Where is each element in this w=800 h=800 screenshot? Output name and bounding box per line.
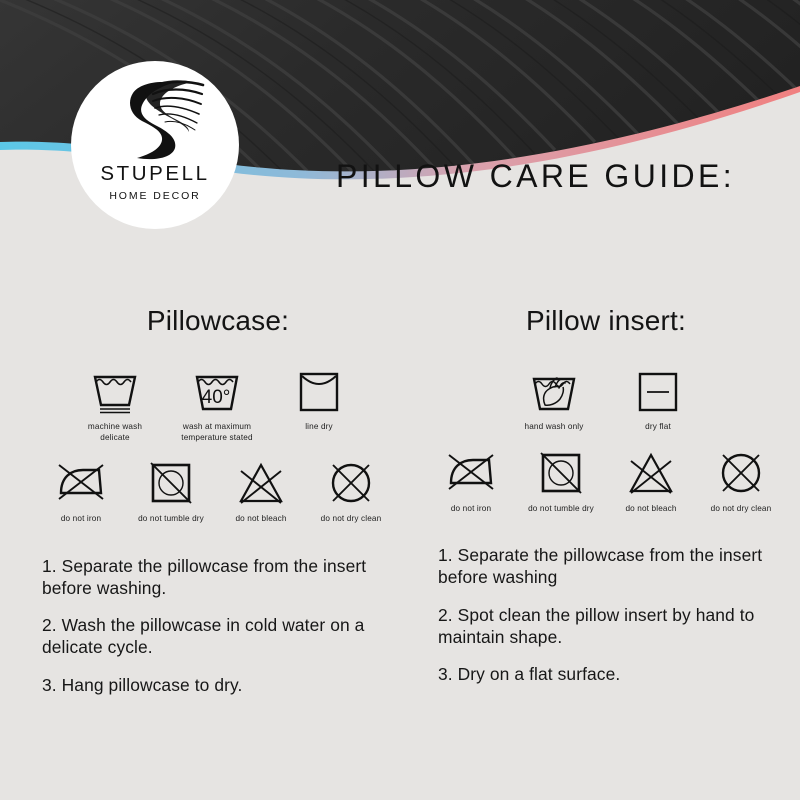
care-symbols-pillow-insert: hand wash only dry flat do not iron — [420, 365, 790, 514]
dry-flat-icon — [630, 365, 686, 417]
care-symbol-caption: dry flat — [645, 422, 671, 433]
care-symbol-do-not-tumble-dry: do not tumble dry — [523, 447, 599, 515]
care-symbol-caption: hand wash only — [525, 422, 584, 433]
swoosh-s-logo-icon — [103, 79, 207, 161]
care-symbol-caption: do not tumble dry — [138, 514, 204, 525]
do-not-bleach-icon — [623, 447, 679, 499]
brand-logo-badge: STUPELL HOME DECOR — [71, 61, 239, 229]
care-symbol-line-dry: line dry — [281, 365, 357, 433]
instructions-pillow-insert: 1. Separate the pillowcase from the inse… — [420, 544, 790, 685]
care-symbol-do-not-bleach: do not bleach — [613, 447, 689, 515]
section-pillowcase: Pillowcase: machine wash delicate 40° — [30, 305, 400, 696]
care-symbol-do-not-tumble-dry: do not tumble dry — [133, 457, 209, 525]
do-not-tumble-dry-icon — [143, 457, 199, 509]
care-symbol-do-not-bleach: do not bleach — [223, 457, 299, 525]
care-symbol-caption: do not bleach — [625, 504, 676, 515]
care-symbol-caption: line dry — [305, 422, 333, 433]
do-not-iron-icon — [443, 447, 499, 499]
care-symbol-machine-wash-delicate: machine wash delicate — [77, 365, 153, 443]
section-heading-pillowcase: Pillowcase: — [30, 305, 400, 345]
wash-max-temperature-40-icon: 40° — [189, 365, 245, 417]
care-symbol-caption: do not dry clean — [321, 514, 382, 525]
care-symbol-caption: do not iron — [451, 504, 491, 515]
instruction-item: 1. Separate the pillowcase from the inse… — [438, 544, 790, 589]
care-symbol-do-not-dry-clean: do not dry clean — [703, 447, 779, 515]
care-symbol-caption: do not iron — [61, 514, 101, 525]
instruction-item: 2. Spot clean the pillow insert by hand … — [438, 604, 790, 649]
care-symbol-hand-wash-only: hand wash only — [516, 365, 592, 433]
instruction-item: 3. Hang pillowcase to dry. — [42, 674, 400, 696]
care-symbol-caption: do not dry clean — [711, 504, 772, 515]
care-symbol-caption: wash at maximum temperature stated — [181, 422, 252, 443]
care-symbol-caption: do not bleach — [235, 514, 286, 525]
care-symbol-caption: do not tumble dry — [528, 504, 594, 515]
instruction-item: 1. Separate the pillowcase from the inse… — [42, 555, 400, 600]
line-dry-icon — [291, 365, 347, 417]
do-not-iron-icon — [53, 457, 109, 509]
care-symbol-do-not-dry-clean: do not dry clean — [313, 457, 389, 525]
care-symbol-do-not-iron: do not iron — [433, 447, 509, 515]
do-not-tumble-dry-icon — [533, 447, 589, 499]
section-pillow-insert: Pillow insert: hand wash only dry fl — [420, 305, 790, 685]
care-symbol-do-not-iron: do not iron — [43, 457, 119, 525]
machine-wash-delicate-icon — [87, 365, 143, 417]
hand-wash-only-icon — [526, 365, 582, 417]
section-heading-pillow-insert: Pillow insert: — [420, 305, 790, 345]
do-not-dry-clean-icon — [713, 447, 769, 499]
instructions-pillowcase: 1. Separate the pillowcase from the inse… — [30, 555, 400, 696]
brand-name: STUPELL — [100, 164, 209, 185]
care-symbol-caption: machine wash delicate — [88, 422, 142, 443]
do-not-dry-clean-icon — [323, 457, 379, 509]
wash-temperature-value: 40° — [202, 387, 231, 408]
care-symbols-pillowcase: machine wash delicate 40° wash at maximu… — [30, 365, 400, 525]
page-title: PILLOW CARE GUIDE: — [336, 158, 735, 195]
care-symbol-dry-flat: dry flat — [620, 365, 696, 433]
instruction-item: 3. Dry on a flat surface. — [438, 663, 790, 685]
instruction-item: 2. Wash the pillowcase in cold water on … — [42, 614, 400, 659]
do-not-bleach-icon — [233, 457, 289, 509]
care-symbol-wash-max-temperature: 40° wash at maximum temperature stated — [179, 365, 255, 443]
brand-tagline: HOME DECOR — [109, 191, 200, 202]
